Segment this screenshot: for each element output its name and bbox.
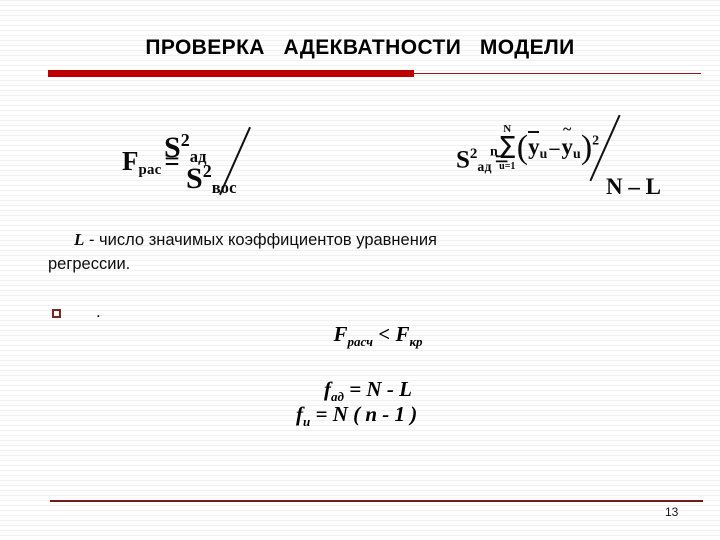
symbol-l: L — [74, 230, 84, 249]
formula-f-raschetnoe-denominator-row: S2вос — [186, 161, 237, 196]
criterion-lhs-symbol: F — [334, 322, 348, 346]
formula-f-raschetnoe-body: Fрас= S2ад S2вос — [122, 130, 237, 196]
formula-s2-adekvatnosti: S2ад= nNΣu=1(yu–~yu)2 N – L — [456, 124, 661, 200]
page-title: ПРОВЕРКА АДЕКВАТНОСТИ МОДЕЛИ — [0, 36, 720, 60]
slide-canvas: ПРОВЕРКА АДЕКВАТНОСТИ МОДЕЛИ Fрас= S2ад … — [0, 0, 720, 540]
footer-divider — [50, 500, 703, 502]
criterion-rhs-subscript: кр — [409, 334, 422, 349]
numerator-subscript: ад — [190, 147, 207, 166]
formula-s2-body: S2ад= nNΣu=1(yu–~yu)2 N – L — [456, 124, 661, 200]
f-equals: = — [164, 146, 179, 176]
summation-lower-limit: u=1 — [498, 162, 517, 172]
s2-symbol: S — [456, 146, 470, 173]
square-bullet-icon — [52, 309, 61, 318]
y-tilde-subscript: u — [573, 146, 581, 161]
title-underline-accent-bar — [48, 70, 414, 77]
sigma-icon: Σ — [498, 135, 517, 162]
formula-s2-denominator: N – L — [606, 174, 661, 200]
formula-f-raschetnoe-lhs: Fрас= — [122, 146, 180, 177]
f-symbol: F — [122, 146, 139, 176]
s2-subscript: ад — [477, 159, 491, 174]
tilde-accent: ~ — [561, 122, 573, 138]
body-text-block: L - число значимых коэффициентов уравнен… — [48, 228, 648, 277]
f-u-symbol: f — [296, 402, 303, 426]
paren-power: 2 — [592, 133, 599, 148]
y-bar-symbol: y — [528, 134, 540, 159]
numerator-power: 2 — [181, 130, 190, 150]
f-u-subscript: u — [303, 414, 310, 429]
y-tilde-term: ~y — [561, 134, 573, 160]
f-u-expression: = N ( n - 1 ) — [310, 402, 417, 426]
summation-operator: NΣu=1 — [498, 124, 517, 172]
formula-s2-numerator: nNΣu=1(yu–~yu)2 — [490, 124, 599, 172]
formula-f-vosproizvodimosti-dof: fu = N ( n - 1 ) — [275, 377, 417, 452]
criterion-lhs-subscript: расч — [348, 334, 373, 349]
minus-sign: – — [549, 137, 559, 159]
overbar-accent — [528, 131, 539, 133]
formula-f-raschetnoe: Fрас= S2ад S2вос — [122, 130, 237, 196]
y-bar-term: y — [528, 134, 540, 160]
bullet-row: . Fрасч < Fкр — [52, 302, 672, 336]
page-number: 13 — [665, 505, 678, 519]
y-bar-subscript: u — [540, 146, 548, 161]
bullet-text: . — [96, 302, 101, 322]
formula-f-raschetnoe-numerator-row: Fрас= S2ад — [164, 130, 237, 165]
formula-s2-numerator-row: S2ад= nNΣu=1(yu–~yu)2 — [456, 124, 661, 172]
open-paren: ( — [517, 129, 528, 166]
criterion-rhs-symbol: F — [395, 322, 409, 346]
denominator-s-symbol: S — [186, 162, 203, 195]
criterion-operator: < — [373, 322, 395, 346]
body-text-line-1: - число значимых коэффициентов уравнения — [84, 231, 437, 249]
body-text-line-2: регрессии. — [48, 255, 130, 273]
f-subscript: рас — [139, 162, 162, 178]
close-paren: ) — [581, 129, 592, 166]
